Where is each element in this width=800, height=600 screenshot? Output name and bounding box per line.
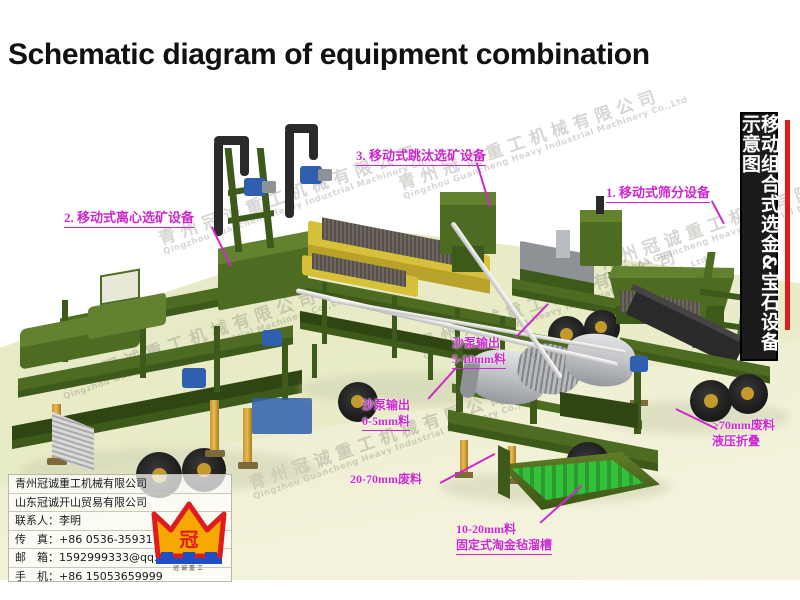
vertical-banner: 移动组合式选金&宝石设备示意图 <box>740 112 778 361</box>
logo-caption: 冠诚重工 <box>150 563 228 572</box>
fax-label: 传 真 <box>15 531 48 549</box>
callout-sand-pump-5-10: 沙泵输出 5-10mm料 <box>452 336 506 369</box>
red-accent-bar <box>785 120 790 330</box>
company-logo: 冠 冠诚重工 <box>150 500 228 572</box>
vertical-banner-text: 移动组合式选金&宝石设备示意图 <box>740 114 778 359</box>
company-name-1: 青州冠诚重工机械有限公司 <box>9 475 231 494</box>
mobile-value: +86 15053659999 <box>59 570 163 583</box>
contact-person-label: 联系人 <box>15 512 48 530</box>
mobile-label: 手 机 <box>15 568 48 586</box>
svg-text:冠: 冠 <box>179 529 198 551</box>
callout-1: 1. 移动式筛分设备 <box>606 182 710 203</box>
contact-person-value: 李明 <box>59 514 81 527</box>
diagram-canvas: Schematic diagram of equipment combinati… <box>0 0 800 600</box>
page-title: Schematic diagram of equipment combinati… <box>8 38 650 72</box>
crown-icon: 冠 <box>150 500 228 572</box>
callout-2: 2. 移动式离心选矿设备 <box>64 207 194 228</box>
callout-sluice-10-20: 10-20mm料 固定式淘金毡溜槽 <box>456 522 552 555</box>
callout-waste-20-70: 20-70mm废料 <box>350 470 422 488</box>
callout-1-leader <box>711 200 725 224</box>
callout-3: 3. 移动式跳汰选矿设备 <box>356 145 486 166</box>
callout-sand-pump-0-5: 沙泵输出 0-5mm料 <box>362 398 410 431</box>
callout-waste-70-fold: >70mm废料 液压折叠 <box>712 418 775 450</box>
email-label: 邮 箱 <box>15 549 48 567</box>
